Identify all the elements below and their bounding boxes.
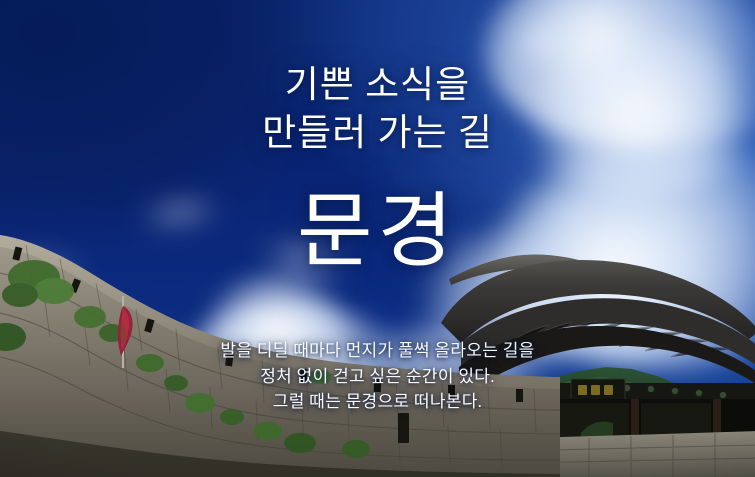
text-layer: 기쁜 소식을 만들러 가는 길 문경 발을 디딜 때마다 먼지가 풀썩 올라오는… xyxy=(0,0,755,477)
body-line-2: 정처 없이 걷고 싶은 순간이 있다. xyxy=(0,364,755,390)
headline: 기쁜 소식을 만들러 가는 길 xyxy=(0,62,755,158)
destination-title: 문경 xyxy=(0,186,755,278)
body-copy: 발을 디딜 때마다 먼지가 풀썩 올라오는 길을 정처 없이 걷고 싶은 순간이… xyxy=(0,338,755,415)
headline-line-1: 기쁜 소식을 xyxy=(0,62,755,110)
mungyeong-travel-banner: 기쁜 소식을 만들러 가는 길 문경 발을 디딜 때마다 먼지가 풀썩 올라오는… xyxy=(0,0,755,477)
headline-line-2: 만들러 가는 길 xyxy=(0,110,755,158)
body-line-3: 그럴 때는 문경으로 떠나본다. xyxy=(0,389,755,415)
body-line-1: 발을 디딜 때마다 먼지가 풀썩 올라오는 길을 xyxy=(0,338,755,364)
